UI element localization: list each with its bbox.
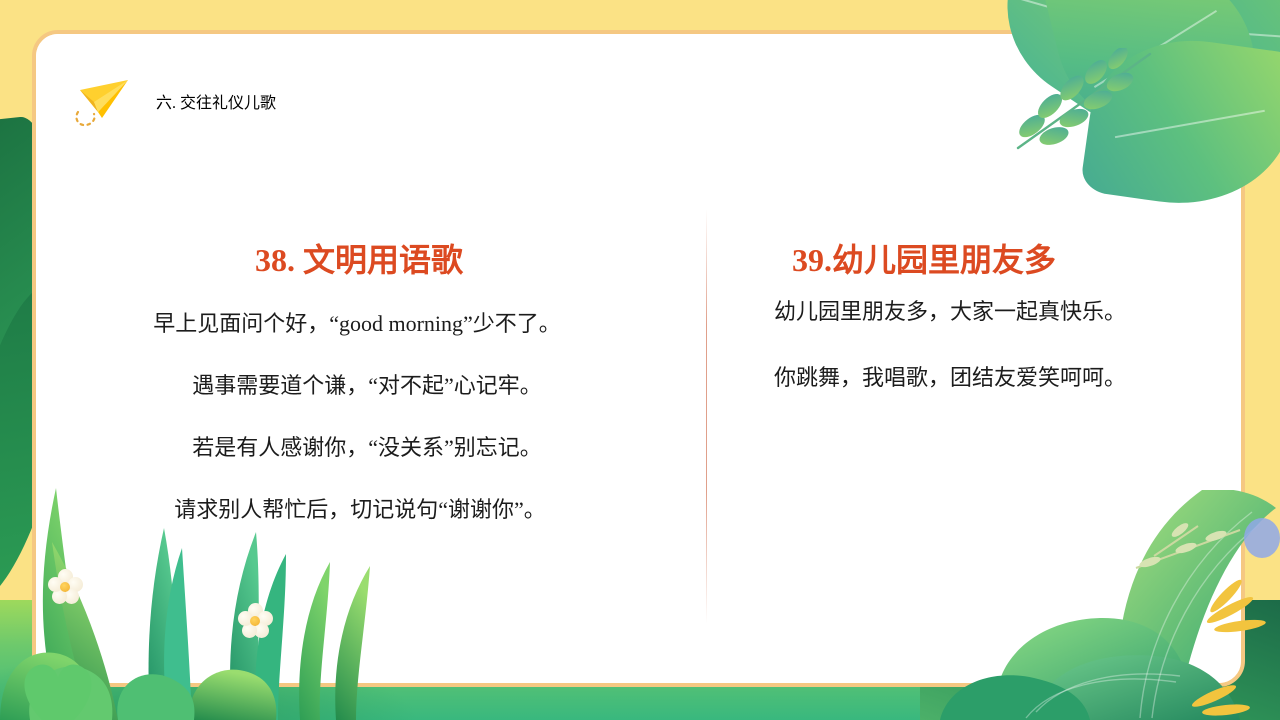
verse-line: 请求别人帮忙后，切记说句“谢谢你”。 xyxy=(78,494,640,526)
verse-column-left: 38. 文明用语歌 早上见面问个好，“good morning”少不了。 遇事需… xyxy=(40,186,678,623)
verse-line: 若是有人感谢你，“没关系”别忘记。 xyxy=(78,432,640,464)
verse-line: 早上见面问个好，“good morning”少不了。 xyxy=(78,308,640,340)
verse-body-38: 早上见面问个好，“good morning”少不了。 遇事需要道个谦，“对不起”… xyxy=(78,308,640,526)
verse-column-right: 39.幼儿园里朋友多 幼儿园里朋友多，大家一起真快乐。 你跳舞，我唱歌，团结友爱… xyxy=(678,186,1237,623)
verse-body-39: 幼儿园里朋友多，大家一起真快乐。 你跳舞，我唱歌，团结友爱笑呵呵。 xyxy=(774,296,1179,394)
verse-columns: 38. 文明用语歌 早上见面问个好，“good morning”少不了。 遇事需… xyxy=(40,186,1237,623)
verse-title-38: 38. 文明用语歌 xyxy=(78,238,640,282)
verse-line: 幼儿园里朋友多，大家一起真快乐。 xyxy=(774,296,1179,328)
slide-header: 六. 交往礼仪儿歌 xyxy=(72,72,276,130)
content-card: 六. 交往礼仪儿歌 38. 文明用语歌 早上见面问个好，“good mornin… xyxy=(32,30,1245,687)
verse-line: 遇事需要道个谦，“对不起”心记牢。 xyxy=(78,370,640,402)
page-title: 六. 交往礼仪儿歌 xyxy=(156,89,276,113)
verse-title-39: 39.幼儿园里朋友多 xyxy=(774,238,1179,282)
paper-plane-icon xyxy=(72,72,134,130)
verse-line: 你跳舞，我唱歌，团结友爱笑呵呵。 xyxy=(774,362,1179,394)
slide-canvas: 六. 交往礼仪儿歌 38. 文明用语歌 早上见面问个好，“good mornin… xyxy=(0,0,1280,720)
